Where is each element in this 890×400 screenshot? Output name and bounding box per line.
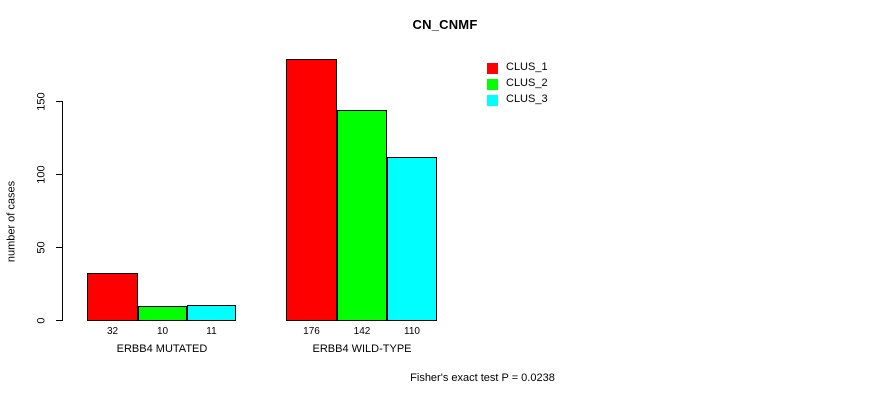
legend-swatch-icon	[487, 95, 498, 106]
group-label-erbb4-mutated: ERBB4 MUTATED	[72, 344, 252, 355]
bar-value-label: 11	[187, 327, 236, 337]
legend-label: CLUS_3	[506, 93, 548, 106]
chart-title: CN_CNMF	[0, 17, 890, 32]
bar-erbb4-mutated-clus-1[interactable]	[87, 273, 138, 321]
legend-label: CLUS_2	[506, 77, 548, 90]
bar-erbb4-mutated-clus-2[interactable]	[138, 306, 187, 321]
y-axis-tick-label-0: 0	[37, 311, 48, 331]
y-axis-title: number of cases	[7, 162, 18, 282]
legend-swatch-icon	[487, 79, 498, 90]
bar-value-label: 142	[337, 327, 387, 337]
bar-value-label: 110	[387, 327, 437, 337]
bar-erbb4-wild-type-clus-1[interactable]	[286, 59, 337, 321]
y-axis-tick-0	[56, 320, 62, 321]
legend-label: CLUS_1	[506, 61, 548, 74]
bar-value-label: 176	[286, 327, 337, 337]
y-axis-tick-label-150: 150	[37, 92, 48, 112]
footer-annotation: Fisher's exact test P = 0.0238	[0, 372, 890, 384]
bar-value-label: 32	[87, 327, 138, 337]
y-axis-line	[62, 101, 63, 321]
y-axis-tick-label-50: 50	[37, 238, 48, 258]
y-axis-tick-100	[56, 174, 62, 175]
bar-value-label: 10	[138, 327, 187, 337]
bar-erbb4-wild-type-clus-3[interactable]	[387, 157, 437, 321]
bar-erbb4-mutated-clus-3[interactable]	[187, 305, 236, 321]
bar-chart-figure: CN_CNMF 150 100 50 0 number of cases 32 …	[0, 0, 890, 400]
bar-erbb4-wild-type-clus-2[interactable]	[337, 110, 387, 321]
group-label-erbb4-wild-type: ERBB4 WILD-TYPE	[272, 344, 452, 355]
y-axis-tick-50	[56, 247, 62, 248]
y-axis-tick-150	[56, 101, 62, 102]
fisher-test-text: Fisher's exact test P = 0.0238	[410, 372, 555, 384]
legend-swatch-icon	[487, 63, 498, 74]
y-axis-tick-label-100: 100	[37, 165, 48, 185]
